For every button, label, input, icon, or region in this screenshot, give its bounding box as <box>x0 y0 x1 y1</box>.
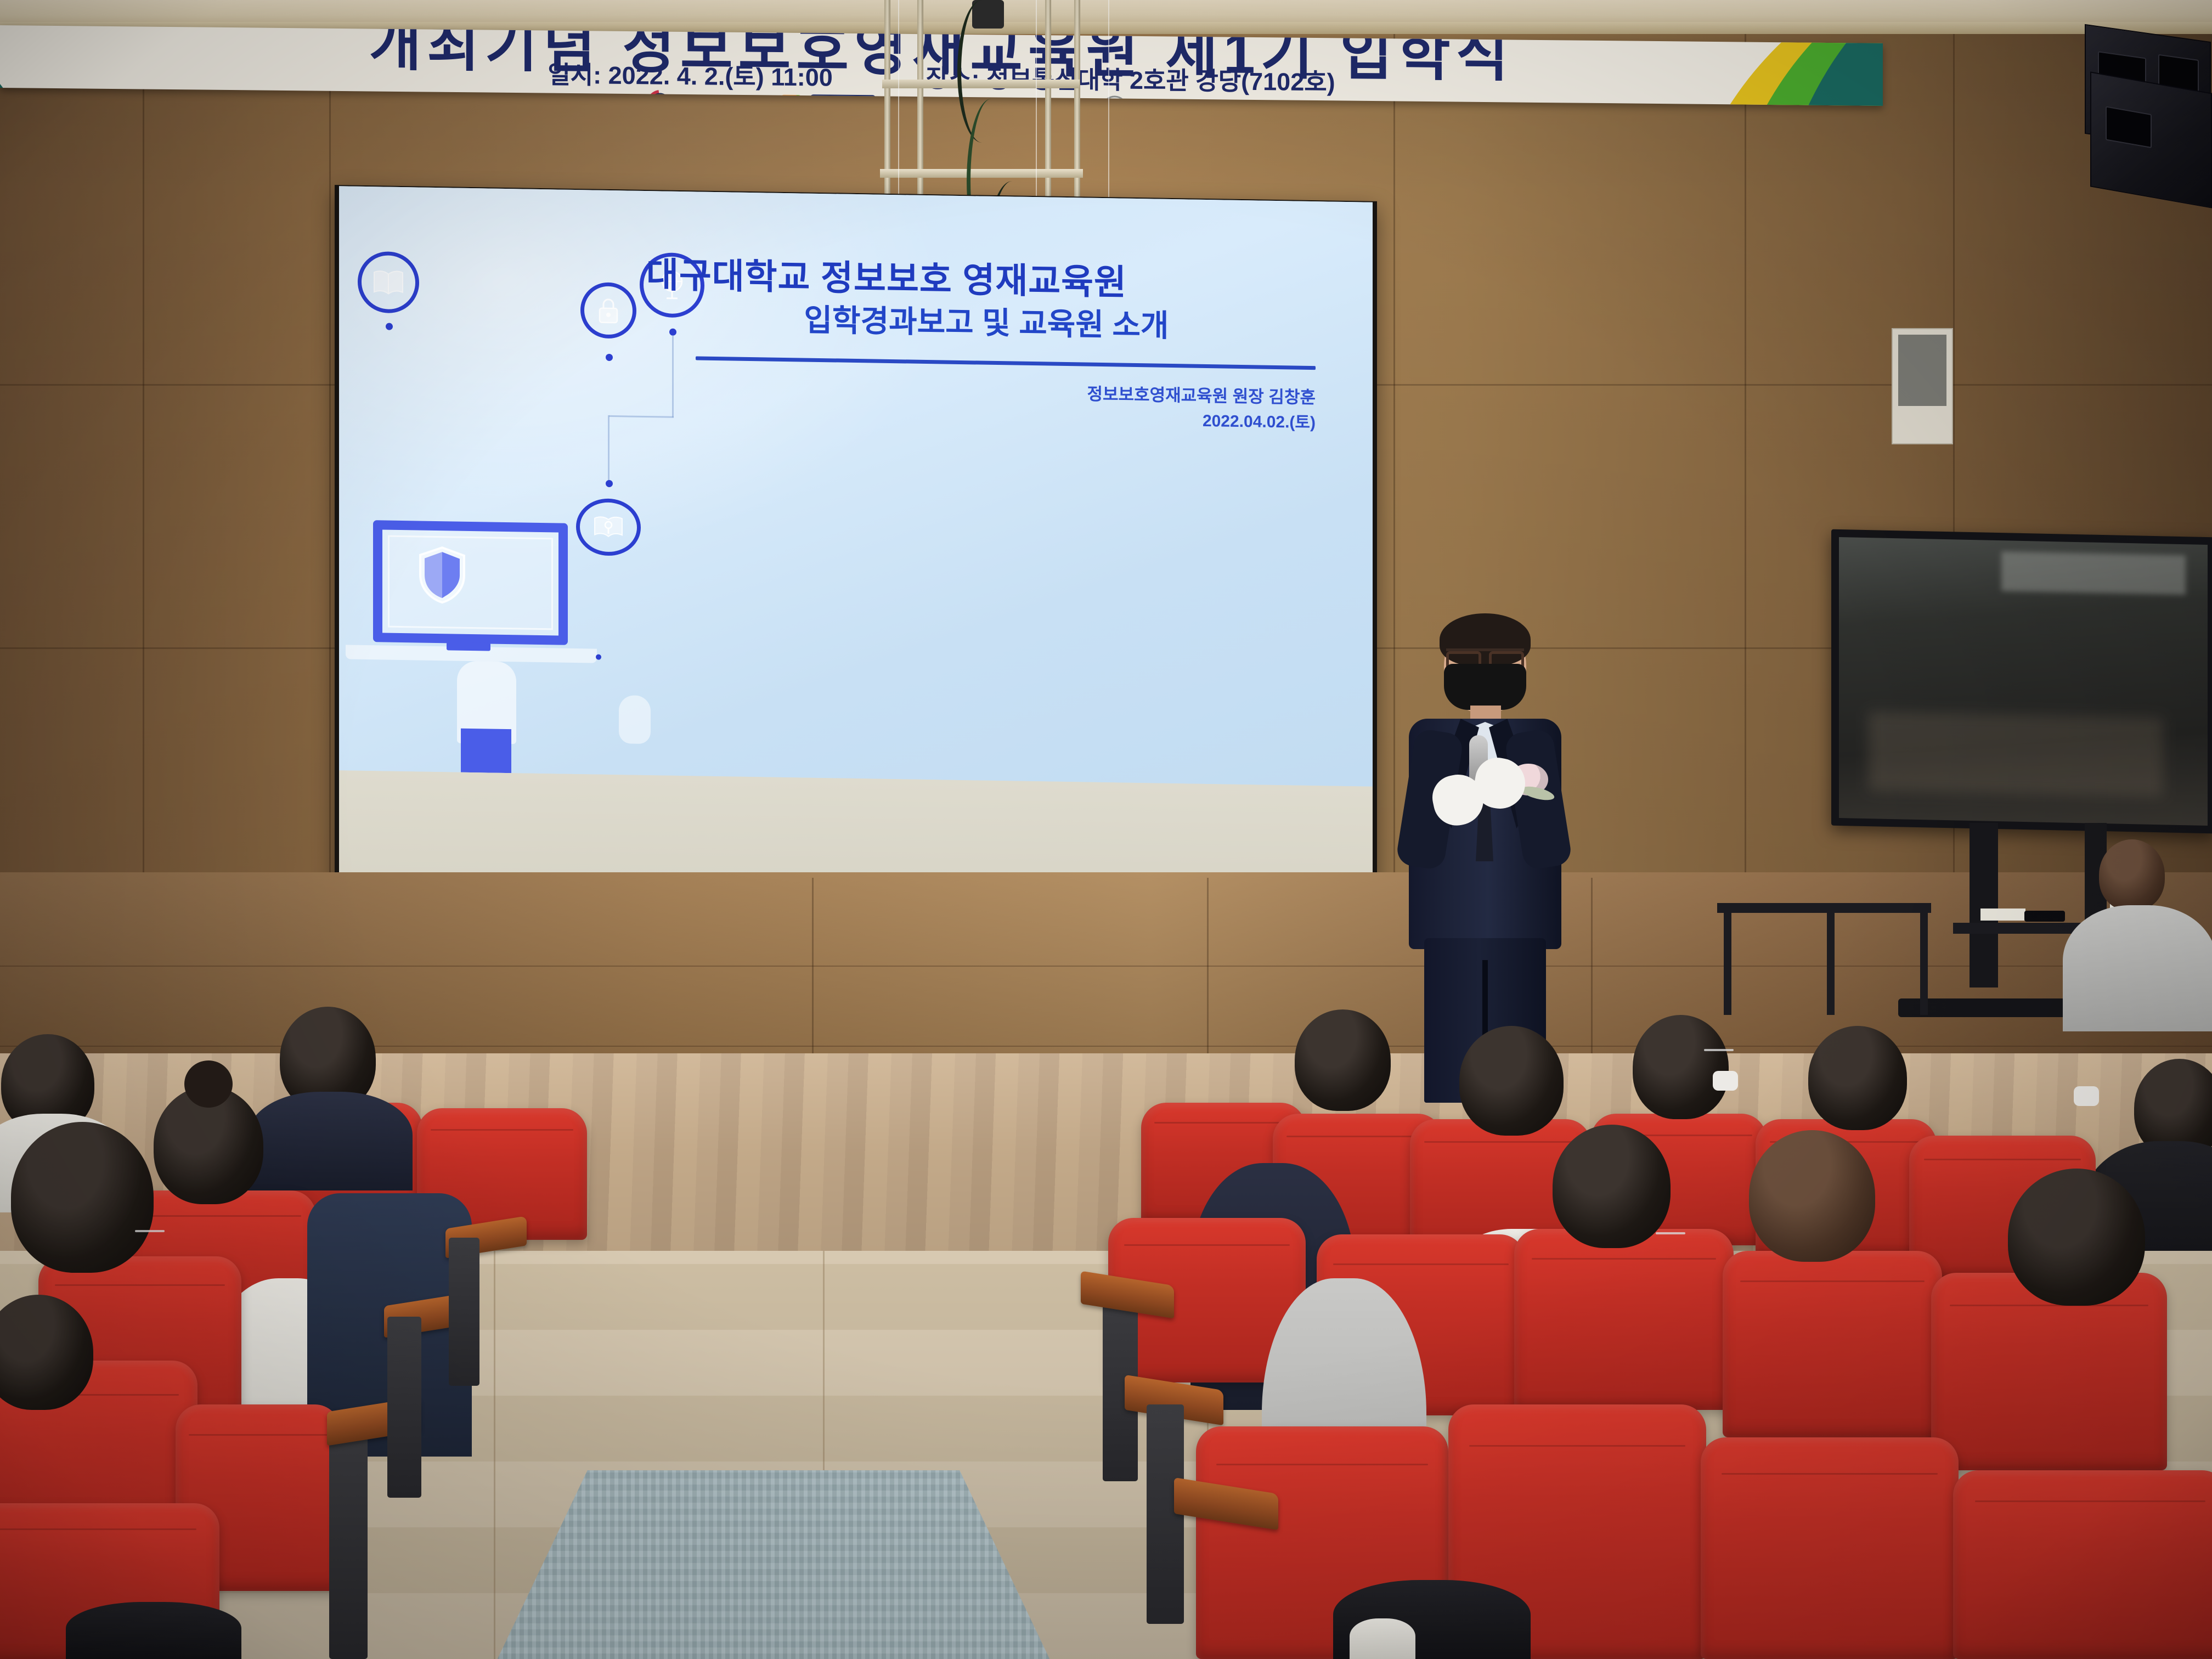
seat-side-panel <box>387 1317 421 1498</box>
attendee-shoulders <box>1350 1618 1415 1659</box>
remote-control[interactable] <box>2024 911 2065 922</box>
attendee-head <box>1459 1026 1564 1136</box>
attendee-head <box>1295 1009 1391 1111</box>
mouse-icon <box>619 695 651 744</box>
node-dot <box>606 480 613 487</box>
seat-side-panel <box>449 1238 479 1386</box>
flat-panel-display[interactable] <box>1831 529 2212 834</box>
attendee-head <box>1808 1026 1907 1130</box>
seat[interactable] <box>1514 1229 1734 1410</box>
attendee-head <box>154 1086 263 1204</box>
attendee-head <box>2099 839 2165 911</box>
lock-icon <box>580 282 636 339</box>
shield-icon <box>417 545 467 605</box>
projected-slide: 대구대학교 정보보호 영재교육원 입학경과보고 및 교육원 소개 정보보호영재교… <box>339 186 1373 787</box>
eyeglasses-icon <box>135 1230 165 1232</box>
wall-speaker-lower <box>2090 71 2212 208</box>
face-mask-icon <box>2074 1086 2099 1106</box>
presenter-speaking <box>1393 609 1575 1103</box>
connector-line <box>608 415 610 481</box>
eyeglasses-icon <box>1656 1232 1685 1234</box>
book-search-icon <box>576 498 641 556</box>
connector-line <box>672 335 674 417</box>
seat[interactable] <box>1953 1470 2212 1659</box>
wall-control-panel[interactable] <box>1892 328 1953 444</box>
paper-sheet <box>1980 909 2025 921</box>
attendee-head <box>11 1122 154 1273</box>
eyeglasses-icon <box>1446 648 1524 665</box>
node-dot <box>606 354 613 361</box>
laptop-shield-icon <box>373 520 568 645</box>
attendee-shoulders <box>248 1092 413 1190</box>
attendee-head <box>1749 1130 1875 1262</box>
auditorium-photo: 개최기념 정보보호영재교육원 제1기 입학식 일시: 2022. 4. 2.(토… <box>0 0 2212 1659</box>
attendee-head <box>1633 1015 1729 1119</box>
attendee-shoulders <box>2063 905 2212 1031</box>
suspension-wire <box>1108 0 1109 208</box>
screen-surface: 대구대학교 정보보호 영재교육원 입학경과보고 및 교육원 소개 정보보호영재교… <box>339 186 1373 910</box>
face-mask-icon <box>1444 664 1526 710</box>
low-side-table <box>1717 903 1931 913</box>
attendee-head <box>1553 1125 1671 1248</box>
node-dot <box>596 654 601 660</box>
attendee-shoulders <box>66 1602 241 1659</box>
projection-screen: 대구대학교 정보보호 영재교육원 입학경과보고 및 교육원 소개 정보보호영재교… <box>335 185 1377 926</box>
face-mask-icon <box>1713 1071 1738 1091</box>
node-dot <box>386 323 393 330</box>
seat-side-panel <box>329 1426 368 1659</box>
seat[interactable] <box>1701 1437 1959 1659</box>
eyeglasses-icon <box>1704 1049 1734 1051</box>
seat[interactable] <box>1723 1251 1942 1437</box>
display-stand-column <box>1970 823 1998 988</box>
book-icon <box>358 251 419 314</box>
banner-date: 일시: 2022. 4. 2.(토) 11:00 <box>548 55 832 93</box>
attendee-head <box>2008 1169 2145 1306</box>
